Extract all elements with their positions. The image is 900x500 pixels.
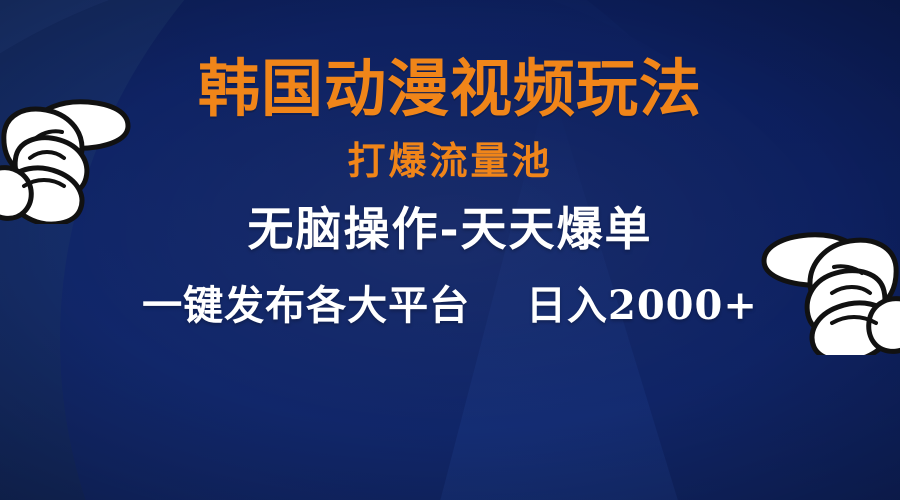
headline: 韩国动漫视频玩法 bbox=[198, 58, 702, 120]
cta-left-text: 一键发布各大平台 bbox=[142, 282, 470, 329]
cta-right-text: 日入2000+ bbox=[526, 282, 758, 329]
subheadline: 打爆流量池 bbox=[347, 142, 552, 180]
banner-text-stack: 韩国动漫视频玩法 打爆流量池 无脑操作-天天爆单 一键发布各大平台 日入2000… bbox=[0, 0, 900, 500]
cta-line: 一键发布各大平台 日入2000+ bbox=[142, 286, 758, 326]
promo-banner: 韩国动漫视频玩法 打爆流量池 无脑操作-天天爆单 一键发布各大平台 日入2000… bbox=[0, 0, 900, 500]
benefit-line: 无脑操作-天天爆单 bbox=[247, 206, 652, 252]
